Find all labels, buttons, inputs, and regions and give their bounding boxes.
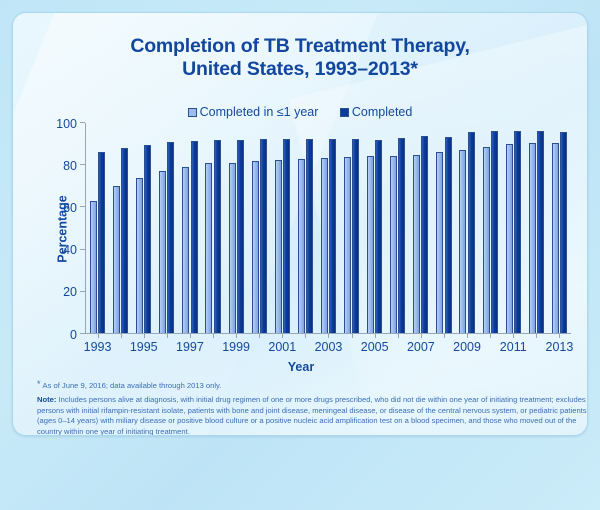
bar-group: 1993 [86,123,109,333]
x-axis-tick-label: 1997 [176,340,204,354]
x-axis-tick [444,333,445,338]
x-axis-tick [513,333,514,338]
x-axis-tick-label: 1993 [84,340,112,354]
bar-completed [167,142,174,333]
bar-group: 2001 [271,123,294,333]
x-axis-title: Year [13,360,588,374]
bar-completed [491,131,498,333]
bar-group-container: 1993199519971999200120032005200720092011… [86,123,571,333]
x-axis-tick-label: 2003 [315,340,343,354]
slide-canvas: Completion of TB Treatment Therapy, Unit… [0,0,600,510]
bar-group: 1997 [178,123,201,333]
x-axis-tick [98,333,99,338]
bar-completed [191,141,198,333]
y-axis-tick [80,206,85,207]
x-axis-tick-label: 1999 [222,340,250,354]
footnote-marker: * [37,379,41,389]
y-axis-tick-label: 60 [63,201,77,215]
bar-group [294,123,317,333]
bar-completed-within-1-year [182,167,189,333]
bar-completed-within-1-year [275,160,282,333]
legend-swatch-light-icon [188,108,197,117]
legend-swatch-dark-icon [340,108,349,117]
bar-completed-within-1-year [113,186,120,333]
note-line: Note: Includes persons alive at diagnosi… [37,395,588,436]
y-axis-tick-label: 40 [63,243,77,257]
chart-panel: Completion of TB Treatment Therapy, Unit… [12,12,588,436]
bar-completed-within-1-year [229,163,236,333]
bar-completed [260,139,267,333]
footnotes-block: *As of June 9, 2016; data available thro… [25,379,588,436]
bar-completed-within-1-year [529,143,536,333]
x-axis-tick-label: 2001 [268,340,296,354]
bar-group: 1995 [132,123,155,333]
bar-group: 2003 [317,123,340,333]
footnote-text: As of June 9, 2016; data available throu… [43,381,222,390]
x-axis-tick [328,333,329,338]
legend-label-completed: Completed [352,105,412,119]
bar-completed [445,137,452,333]
y-axis-tick-label: 20 [63,285,77,299]
bar-completed-within-1-year [506,144,513,333]
x-axis-tick [352,333,353,338]
x-axis-tick-label: 2005 [361,340,389,354]
bar-group: 2013 [548,123,571,333]
bar-completed [537,131,544,333]
bar-completed-within-1-year [344,157,351,333]
x-axis-tick [121,333,122,338]
bar-group [432,123,455,333]
x-axis-tick [282,333,283,338]
y-axis-tick [80,249,85,250]
chart-title-line2: United States, 1993–2013* [13,58,587,81]
bar-group: 2011 [502,123,525,333]
x-axis-tick [190,333,191,338]
bar-completed [306,139,313,333]
bar-group [248,123,271,333]
bar-completed [121,148,128,333]
bar-completed-within-1-year [321,158,328,333]
x-axis-tick [375,333,376,338]
bar-group: 2009 [456,123,479,333]
x-axis-tick [259,333,260,338]
bar-completed [560,132,567,333]
x-axis-tick [559,333,560,338]
bar-completed [398,138,405,333]
y-axis-tick [80,333,85,334]
note-label: Note: [37,395,56,404]
x-axis-tick [167,333,168,338]
bar-completed [421,136,428,333]
bar-group [201,123,224,333]
plot-area: Percentage 020406080100 1993199519971999… [85,123,571,334]
x-axis-tick-label: 2013 [546,340,574,354]
bar-completed [352,139,359,333]
bar-group: 2007 [409,123,432,333]
bar-completed-within-1-year [159,171,166,333]
x-axis-tick [536,333,537,338]
y-axis-tick-label: 80 [63,159,77,173]
y-axis-tick-label: 0 [70,328,77,342]
bar-completed-within-1-year [205,163,212,333]
bar-completed [468,132,475,333]
bar-completed [329,139,336,333]
x-axis-tick-label: 1995 [130,340,158,354]
x-axis-tick [213,333,214,338]
bar-completed-within-1-year [298,159,305,333]
legend-item-completed-within-1-year: Completed in ≤1 year [188,105,319,119]
x-axis-tick [490,333,491,338]
bar-completed [514,131,521,333]
footnote-asterisk-line: *As of June 9, 2016; data available thro… [37,379,588,391]
bar-completed [375,140,382,333]
y-axis-tick [80,122,85,123]
bar-completed [98,152,105,333]
bar-completed [283,139,290,333]
bar-completed-within-1-year [552,143,559,333]
bar-group [340,123,363,333]
bar-completed-within-1-year [252,161,259,333]
bar-completed-within-1-year [367,156,374,333]
bar-group [155,123,178,333]
y-axis-tick [80,164,85,165]
bar-completed-within-1-year [390,156,397,333]
y-axis-tick [80,291,85,292]
x-axis-tick [398,333,399,338]
x-axis-tick-label: 2011 [500,340,527,354]
bar-group [109,123,132,333]
chart-legend: Completed in ≤1 year Completed [13,105,587,119]
chart-title-line1: Completion of TB Treatment Therapy, [130,35,469,57]
x-axis-tick-label: 2009 [453,340,481,354]
bar-completed-within-1-year [136,178,143,333]
x-axis-tick [421,333,422,338]
legend-item-completed: Completed [340,105,412,119]
x-axis-tick-label: 2007 [407,340,435,354]
bar-completed [237,140,244,333]
bar-group [525,123,548,333]
x-axis-tick [144,333,145,338]
bar-completed-within-1-year [483,147,490,333]
bar-completed [144,145,151,333]
x-axis-tick [236,333,237,338]
bar-group [386,123,409,333]
bar-completed-within-1-year [90,201,97,333]
bar-completed [214,140,221,333]
legend-label-completed-within-1-year: Completed in ≤1 year [200,105,319,119]
note-body-text: Includes persons alive at diagnosis, wit… [37,395,587,435]
bar-completed-within-1-year [413,155,420,334]
bar-group [479,123,502,333]
bar-completed-within-1-year [459,150,466,333]
x-axis-tick [305,333,306,338]
bar-completed-within-1-year [436,152,443,333]
x-axis-tick [467,333,468,338]
chart-title: Completion of TB Treatment Therapy, Unit… [13,35,587,81]
bar-group: 2005 [363,123,386,333]
bar-group: 1999 [225,123,248,333]
